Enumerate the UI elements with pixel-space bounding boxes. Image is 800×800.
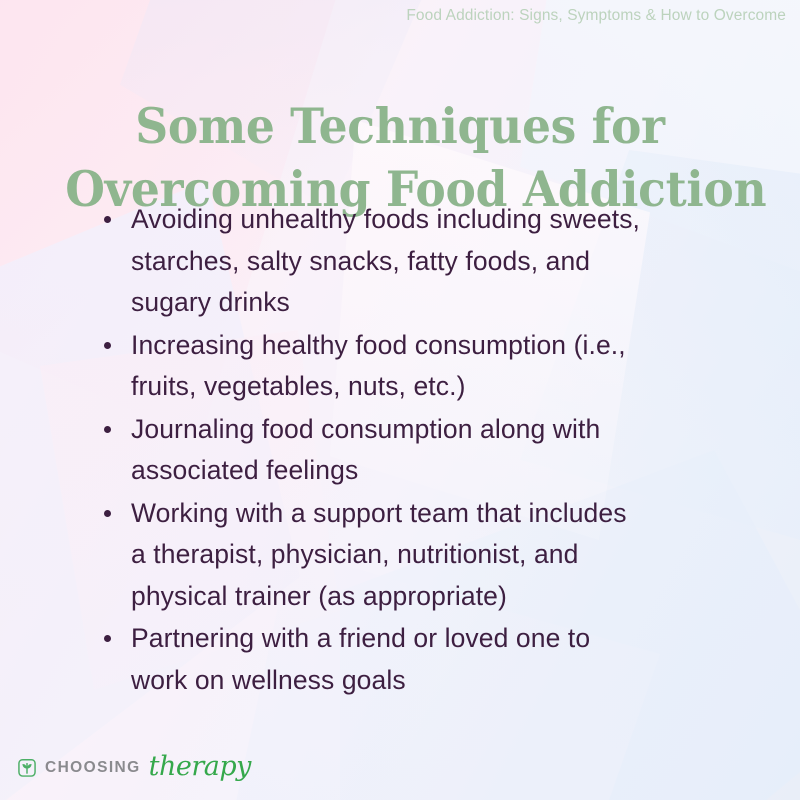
bullet-dot-icon <box>104 510 111 517</box>
list-item-line: Partnering with a friend or loved one to <box>131 618 752 660</box>
choosing-therapy-logo[interactable]: CHOOSING therapy <box>16 754 251 782</box>
list-item-line: sugary drinks <box>131 282 752 324</box>
article-title-eyebrow: Food Addiction: Signs, Symptoms & How to… <box>406 7 786 25</box>
bullet-dot-icon <box>104 426 111 433</box>
list-item-line: fruits, vegetables, nuts, etc.) <box>131 366 752 408</box>
list-item-text: Partnering with a friend or loved one to… <box>131 618 752 701</box>
logo-wordmark: CHOOSING <box>45 759 141 777</box>
page-title-line-1: Some Techniques for <box>65 95 735 158</box>
bullet-dot-icon <box>104 635 111 642</box>
list-item: Journaling food consumption along with a… <box>100 409 752 492</box>
list-item-text: Increasing healthy food consumption (i.e… <box>131 325 752 408</box>
list-item-line: starches, salty snacks, fatty foods, and <box>131 241 752 283</box>
list-item-line: physical trainer (as appropriate) <box>131 576 752 618</box>
bullet-dot-icon <box>104 342 111 349</box>
list-item-line: work on wellness goals <box>131 660 752 702</box>
slide-canvas: Food Addiction: Signs, Symptoms & How to… <box>0 0 800 800</box>
bullet-dot-icon <box>104 216 111 223</box>
list-item-text: Working with a support team that include… <box>131 493 752 618</box>
list-item-line: Working with a support team that include… <box>131 493 752 535</box>
lotus-leaf-icon <box>16 757 38 779</box>
list-item-line: Journaling food consumption along with <box>131 409 752 451</box>
list-item: Working with a support team that include… <box>100 493 752 618</box>
list-item: Partnering with a friend or loved one to… <box>100 618 752 701</box>
list-item-text: Avoiding unhealthy foods including sweet… <box>131 199 752 324</box>
techniques-list: Avoiding unhealthy foods including sweet… <box>100 199 752 702</box>
list-item-line: Avoiding unhealthy foods including sweet… <box>131 199 752 241</box>
logo-script-word: therapy <box>149 751 251 782</box>
slide-content: Food Addiction: Signs, Symptoms & How to… <box>0 0 800 800</box>
list-item-line: associated feelings <box>131 450 752 492</box>
list-item: Avoiding unhealthy foods including sweet… <box>100 199 752 324</box>
list-item-text: Journaling food consumption along with a… <box>131 409 752 492</box>
list-item-line: a therapist, physician, nutritionist, an… <box>131 534 752 576</box>
list-item: Increasing healthy food consumption (i.e… <box>100 325 752 408</box>
list-item-line: Increasing healthy food consumption (i.e… <box>131 325 752 367</box>
